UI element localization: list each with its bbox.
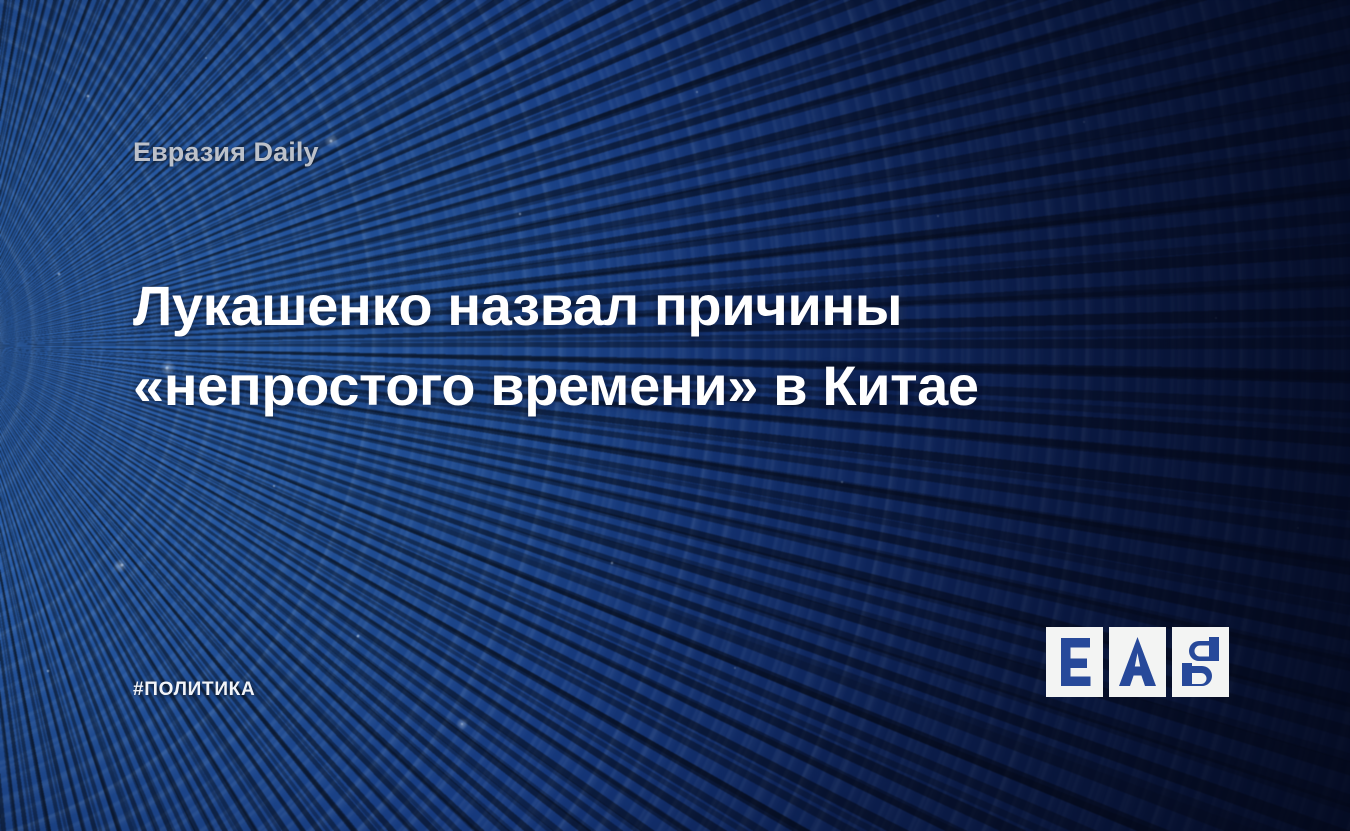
logo-tile-a bbox=[1109, 627, 1166, 697]
logo-letter-d-icon bbox=[1172, 627, 1229, 697]
headline-line-2: «непростого времени» в Китае bbox=[133, 346, 1033, 426]
page-title: Лукашенко назвал причины «непростого вре… bbox=[133, 266, 1033, 426]
logo-tile-d bbox=[1172, 627, 1229, 697]
headline-line-1: Лукашенко назвал причины bbox=[133, 266, 1033, 346]
news-card: Евразия Daily Лукашенко назвал причины «… bbox=[0, 0, 1350, 831]
category-hashtag[interactable]: #ПОЛИТИКА bbox=[133, 679, 255, 701]
logo-letter-e-icon bbox=[1046, 627, 1103, 697]
brand-wordmark: Евразия Daily bbox=[133, 137, 319, 168]
card-content: Евразия Daily Лукашенко назвал причины «… bbox=[0, 0, 1350, 831]
logo-letter-a-icon bbox=[1109, 627, 1166, 697]
logo-tile-e bbox=[1046, 627, 1103, 697]
eadaily-logo[interactable] bbox=[1046, 627, 1229, 697]
